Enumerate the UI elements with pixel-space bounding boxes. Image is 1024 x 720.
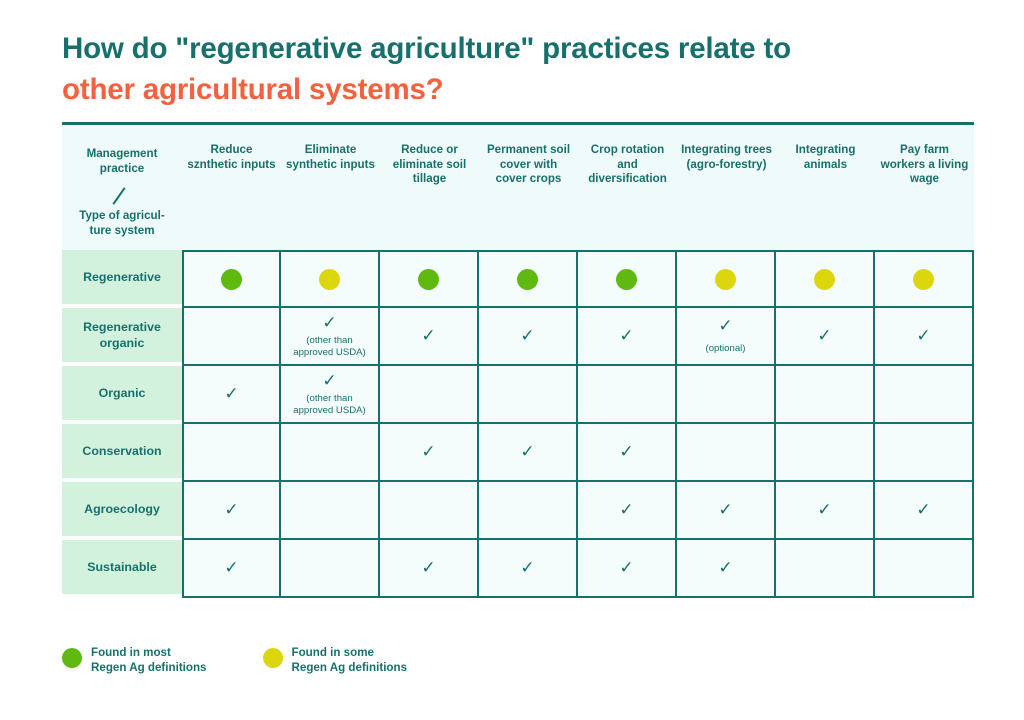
check-icon: ✓ [383, 327, 474, 345]
matrix-cell [479, 366, 578, 424]
matrix-header: Management practice Type of agricul- tur… [62, 122, 974, 250]
matrix-cell: ✓ [578, 540, 677, 598]
diagonal-slash-icon [66, 183, 178, 205]
green-dot-icon [517, 269, 538, 290]
matrix-cell: ✓ [182, 366, 281, 424]
matrix-cell: ✓(other than approved USDA) [281, 366, 380, 424]
check-icon: ✓ [482, 443, 573, 461]
row-label-cell: Conservation [62, 424, 182, 482]
check-icon: ✓ [482, 327, 573, 345]
table-row: Sustainable✓✓✓✓✓ [62, 540, 974, 598]
check-icon: ✓ [383, 559, 474, 577]
check-icon: ✓ [680, 317, 771, 335]
check-icon: ✓ [779, 327, 870, 345]
matrix-body: RegenerativeRegenerative organic✓(other … [62, 250, 974, 598]
matrix-cell [578, 250, 677, 308]
column-header: Crop rotation and diversification [578, 122, 677, 250]
matrix-cell [875, 540, 974, 598]
check-icon: ✓ [284, 314, 375, 332]
infographic-page: How do "regenerative agriculture" practi… [0, 0, 1024, 720]
row-label-cell: Sustainable [62, 540, 182, 598]
column-header: Integrating animals [776, 122, 875, 250]
corner-header-cell: Management practice Type of agricul- tur… [62, 122, 182, 250]
title-line-1: How do "regenerative agriculture" practi… [62, 28, 962, 69]
matrix-cell: ✓ [380, 540, 479, 598]
corner-top-label: Management practice [66, 147, 178, 176]
matrix-cell [281, 540, 380, 598]
matrix-cell: ✓ [578, 482, 677, 540]
cell-note: (other than approved USDA) [284, 335, 375, 359]
comparison-matrix: Management practice Type of agricul- tur… [62, 122, 974, 598]
matrix-cell [182, 424, 281, 482]
matrix-cell: ✓ [677, 540, 776, 598]
matrix-cell [677, 366, 776, 424]
check-icon: ✓ [680, 559, 771, 577]
green-dot-icon [616, 269, 637, 290]
check-icon: ✓ [383, 443, 474, 461]
matrix-cell [380, 482, 479, 540]
matrix-cell: ✓(optional) [677, 308, 776, 366]
matrix-cell: ✓ [380, 308, 479, 366]
check-icon: ✓ [482, 559, 573, 577]
matrix-cell [380, 250, 479, 308]
check-icon: ✓ [284, 372, 375, 390]
matrix-cell [875, 424, 974, 482]
matrix-cell: ✓ [578, 424, 677, 482]
check-icon: ✓ [187, 385, 276, 403]
table-row: Regenerative organic✓(other than approve… [62, 308, 974, 366]
table-row: Conservation✓✓✓ [62, 424, 974, 482]
column-header: Reduce sznthetic inputs [182, 122, 281, 250]
check-icon: ✓ [878, 501, 969, 519]
matrix-cell: ✓ [182, 540, 281, 598]
cell-note: (optional) [680, 343, 771, 355]
matrix-cell [380, 366, 479, 424]
matrix-cell: ✓ [380, 424, 479, 482]
matrix-cell: ✓ [479, 424, 578, 482]
green-dot-icon [221, 269, 242, 290]
matrix-cell: ✓(other than approved USDA) [281, 308, 380, 366]
matrix-cell: ✓ [875, 308, 974, 366]
green-dot-icon [62, 648, 82, 668]
matrix-cell [281, 482, 380, 540]
check-icon: ✓ [779, 501, 870, 519]
matrix-cell [875, 366, 974, 424]
green-dot-icon [418, 269, 439, 290]
matrix-cell: ✓ [578, 308, 677, 366]
row-label-cell: Agroecology [62, 482, 182, 540]
table-row: Agroecology✓✓✓✓✓ [62, 482, 974, 540]
matrix-cell [776, 250, 875, 308]
yellow-dot-icon [814, 269, 835, 290]
matrix-cell: ✓ [875, 482, 974, 540]
matrix-cell: ✓ [677, 482, 776, 540]
matrix-cell [677, 250, 776, 308]
yellow-dot-icon [319, 269, 340, 290]
row-label-cell: Regenerative [62, 250, 182, 308]
header-row: Management practice Type of agricul- tur… [62, 122, 974, 250]
matrix-cell: ✓ [479, 308, 578, 366]
yellow-dot-icon [715, 269, 736, 290]
column-header: Integrating trees (agro-forestry) [677, 122, 776, 250]
title-line-2: other agricultural systems? [62, 69, 962, 110]
yellow-dot-icon [913, 269, 934, 290]
matrix-cell [281, 424, 380, 482]
matrix-table: Management practice Type of agricul- tur… [62, 122, 974, 598]
matrix-cell: ✓ [776, 308, 875, 366]
matrix-cell [578, 366, 677, 424]
page-title: How do "regenerative agriculture" practi… [62, 28, 962, 110]
row-label-cell: Regenerative organic [62, 308, 182, 366]
cell-note: (other than approved USDA) [284, 393, 375, 417]
check-icon: ✓ [581, 327, 672, 345]
check-icon: ✓ [680, 501, 771, 519]
legend-label: Found in most Regen Ag definitions [91, 646, 207, 675]
table-row: Regenerative [62, 250, 974, 308]
matrix-cell [677, 424, 776, 482]
row-label-cell: Organic [62, 366, 182, 424]
matrix-cell [875, 250, 974, 308]
check-icon: ✓ [581, 559, 672, 577]
legend-label: Found in some Regen Ag definitions [292, 646, 408, 675]
check-icon: ✓ [187, 501, 276, 519]
column-header: Reduce or eliminate soil tillage [380, 122, 479, 250]
legend-item: Found in some Regen Ag definitions [263, 646, 408, 675]
matrix-cell: ✓ [182, 482, 281, 540]
matrix-cell [479, 482, 578, 540]
check-icon: ✓ [581, 443, 672, 461]
column-header: Pay farm workers a living wage [875, 122, 974, 250]
table-row: Organic✓✓(other than approved USDA) [62, 366, 974, 424]
matrix-cell [182, 308, 281, 366]
check-icon: ✓ [187, 559, 276, 577]
matrix-cell [776, 424, 875, 482]
legend: Found in most Regen Ag definitions Found… [62, 646, 407, 675]
matrix-cell: ✓ [479, 540, 578, 598]
legend-item: Found in most Regen Ag definitions [62, 646, 207, 675]
matrix-cell [776, 540, 875, 598]
corner-bottom-label: Type of agricul- ture system [66, 209, 178, 238]
matrix-cell [479, 250, 578, 308]
matrix-cell [281, 250, 380, 308]
check-icon: ✓ [581, 501, 672, 519]
matrix-cell: ✓ [776, 482, 875, 540]
column-header: Eliminate synthetic inputs [281, 122, 380, 250]
matrix-cell [182, 250, 281, 308]
matrix-cell [776, 366, 875, 424]
column-header: Permanent soil cover with cover crops [479, 122, 578, 250]
check-icon: ✓ [878, 327, 969, 345]
yellow-dot-icon [263, 648, 283, 668]
